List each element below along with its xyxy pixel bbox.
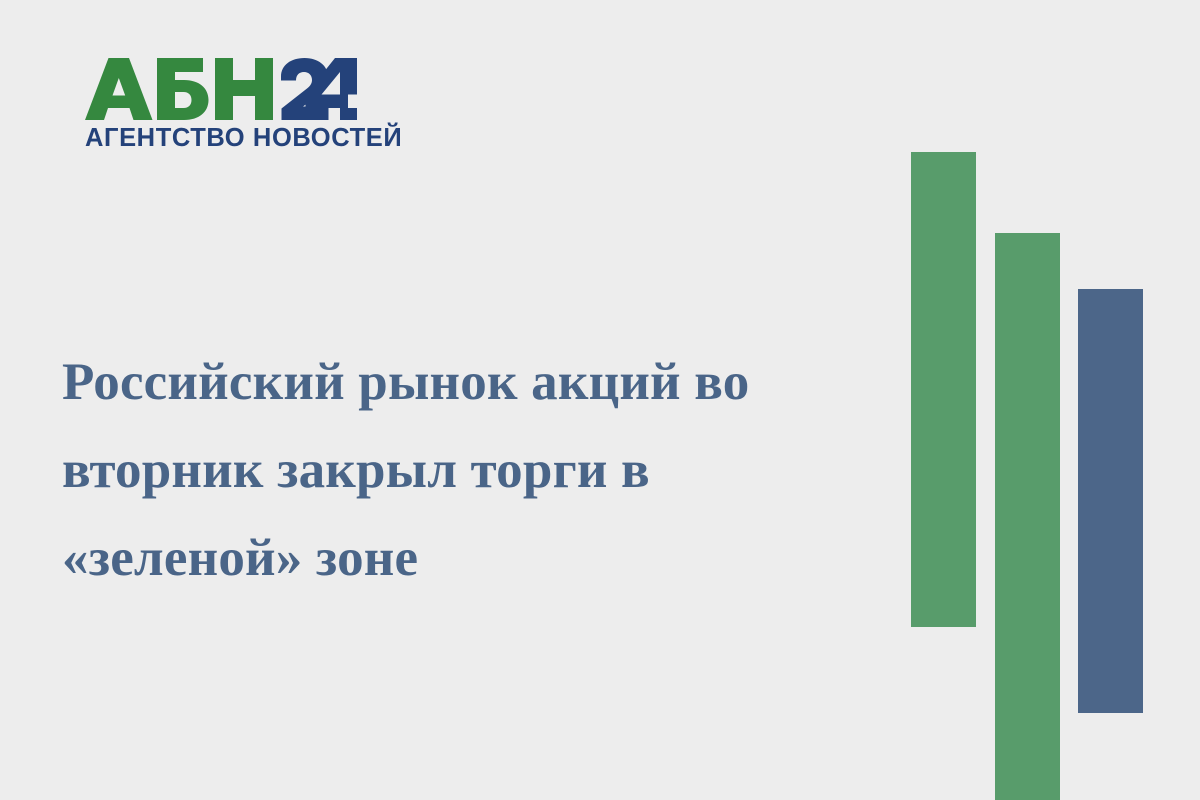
news-card: АГЕНТСТВО НОВОСТЕЙ Российский рынок акци… [0, 0, 1200, 800]
chart-bar-3 [1078, 289, 1143, 713]
logo-wordmark-icon [85, 58, 357, 120]
headline-line-1: Российский рынок акций во [62, 338, 862, 426]
logo-tagline: АГЕНТСТВО НОВОСТЕЙ [85, 126, 375, 152]
chart-bar-1 [911, 152, 976, 627]
brand-logo[interactable]: АГЕНТСТВО НОВОСТЕЙ [85, 58, 375, 152]
chart-bar-2 [995, 233, 1060, 800]
page-title: Российский рынок акций во вторник закрыл… [62, 338, 862, 602]
headline-line-3: «зеленой» зоне [62, 514, 862, 602]
headline-line-2: вторник закрыл торги в [62, 426, 862, 514]
